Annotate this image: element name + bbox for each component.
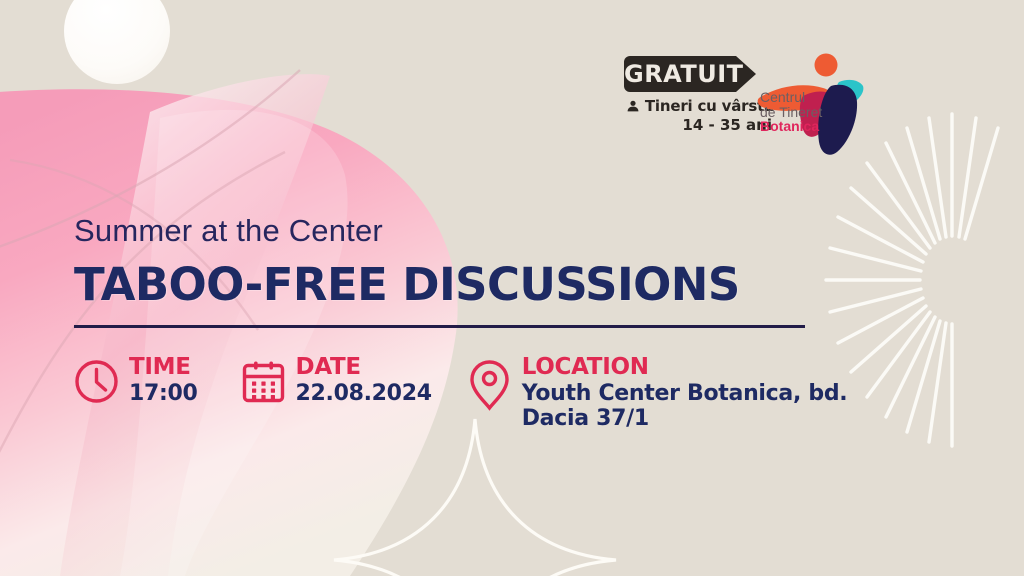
age-line-1-text: Tineri cu vârsta (645, 97, 774, 115)
detail-location-text: LOCATION Youth Center Botanica, bd. Daci… (522, 355, 848, 431)
logo-line-2: de Tineret (760, 105, 822, 120)
detail-time-text: TIME 17:00 (129, 355, 198, 406)
gratuit-label: GRATUIT (624, 56, 736, 92)
detail-date-text: DATE 22.08.2024 (296, 355, 432, 406)
event-poster: GRATUIT Tineri cu vârsta 14 - 35 ani Cen… (0, 0, 1024, 576)
calendar-icon (241, 359, 286, 409)
person-icon (626, 99, 640, 113)
detail-time-value: 17:00 (129, 381, 198, 406)
white-circle-decoration (64, 0, 170, 84)
page-title: TABOO-FREE DISCUSSIONS (74, 258, 740, 311)
age-line-2-text: 14 - 35 ani (624, 116, 774, 134)
age-line-1-row: Tineri cu vârsta (624, 97, 774, 115)
free-admission-badge: GRATUIT Tineri cu vârsta 14 - 35 ani (624, 56, 774, 134)
event-subtitle: Summer at the Center (74, 213, 383, 249)
detail-date-label: DATE (296, 354, 361, 380)
detail-location-value: Youth Center Botanica, bd. Dacia 37/1 (522, 381, 848, 431)
four-point-star-decoration (330, 415, 620, 576)
clock-icon (74, 359, 119, 409)
divider (74, 325, 805, 328)
logo-wordmark: Centrul de Tineret Botanica (760, 90, 822, 134)
logo-line-1: Centrul (760, 90, 822, 105)
detail-time-label: TIME (129, 354, 191, 380)
event-details-row: TIME 17:00 (74, 355, 847, 431)
detail-date: DATE 22.08.2024 (241, 355, 432, 409)
sunburst-rays-decoration (824, 110, 1024, 450)
detail-date-value: 22.08.2024 (296, 381, 432, 406)
detail-location-label: LOCATION (522, 354, 649, 380)
logo-line-3: Botanica (760, 119, 822, 134)
detail-location: LOCATION Youth Center Botanica, bd. Daci… (467, 355, 848, 431)
location-pin-icon (467, 359, 512, 416)
gratuit-banner: GRATUIT (624, 56, 774, 92)
detail-time: TIME 17:00 (74, 355, 198, 409)
